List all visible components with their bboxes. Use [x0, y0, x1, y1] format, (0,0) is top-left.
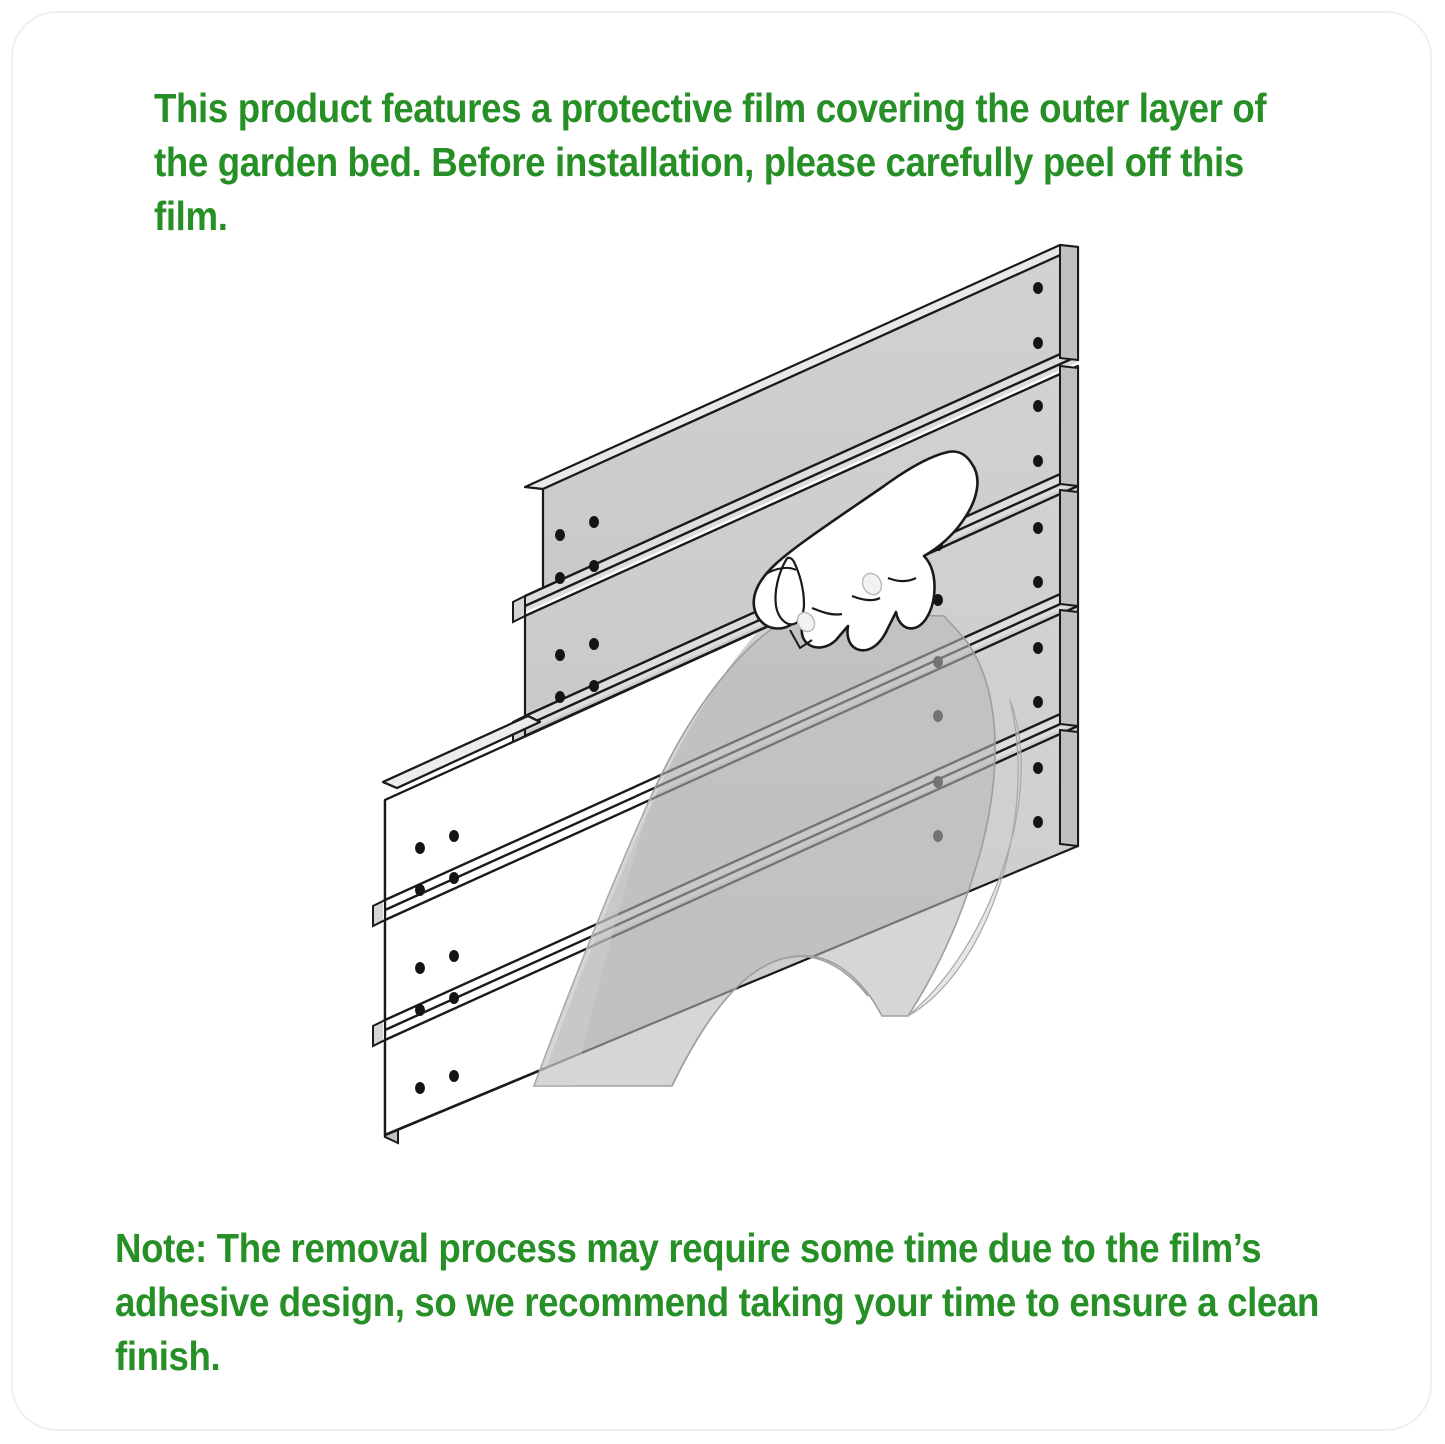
footer-note-text: Note: The removal process may require so… [115, 1222, 1364, 1384]
page-root: This product features a protective film … [0, 0, 1445, 1444]
heading-instruction-text: This product features a protective film … [154, 82, 1321, 244]
